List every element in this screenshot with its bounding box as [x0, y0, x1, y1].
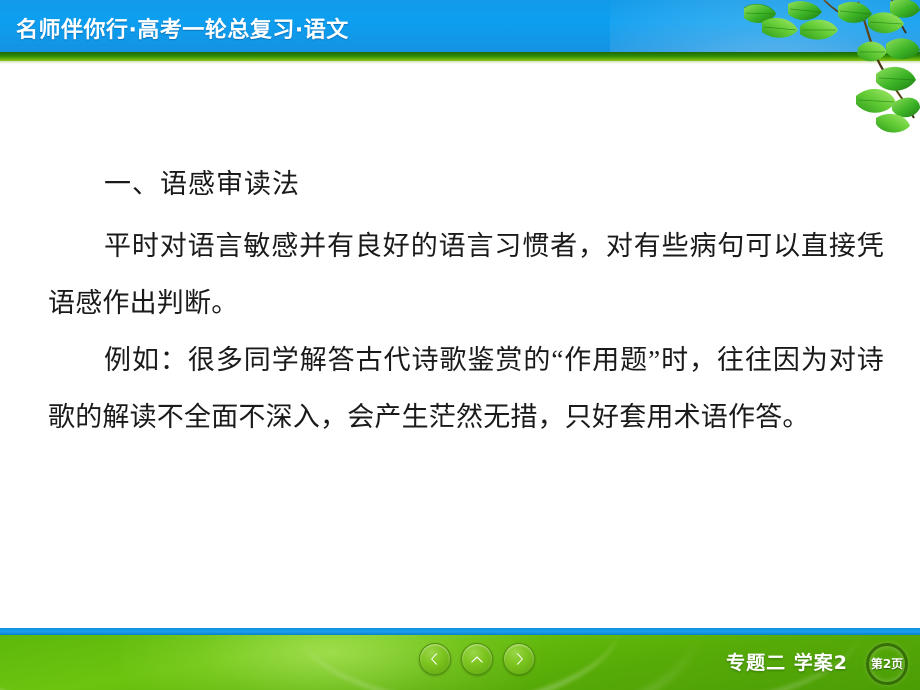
prev-slide-button[interactable] [419, 643, 451, 675]
chevron-left-icon [427, 651, 443, 667]
footer-lesson-label: 专题二 学案2 [726, 648, 848, 675]
slide-content: 一、语感审读法 平时对语言敏感并有良好的语言习惯者，对有些病句可以直接凭语感作出… [48, 162, 884, 446]
page-number-text: 第2页 [864, 655, 910, 672]
footer-blue-strip [0, 628, 920, 635]
slide: 名师伴你行·高考一轮总复习·语文 [0, 0, 920, 690]
page-number-badge: 第2页 [864, 643, 910, 683]
up-slide-button[interactable] [461, 643, 493, 675]
paragraph-1: 平时对语言敏感并有良好的语言习惯者，对有些病句可以直接凭语感作出判断。 [48, 218, 884, 332]
header-green-band [0, 52, 920, 61]
chevron-right-icon [511, 651, 527, 667]
navigation-buttons [419, 643, 535, 675]
paragraph-2: 例如：很多同学解答古代诗歌鉴赏的“作用题”时，往往因为对诗歌的解读不全面不深入，… [48, 332, 884, 446]
section-heading: 一、语感审读法 [48, 162, 884, 206]
header-glow [610, 0, 920, 52]
header-title: 名师伴你行·高考一轮总复习·语文 [16, 12, 349, 44]
chevron-up-icon [469, 651, 485, 667]
header-band-shadow [0, 61, 920, 64]
next-slide-button[interactable] [503, 643, 535, 675]
